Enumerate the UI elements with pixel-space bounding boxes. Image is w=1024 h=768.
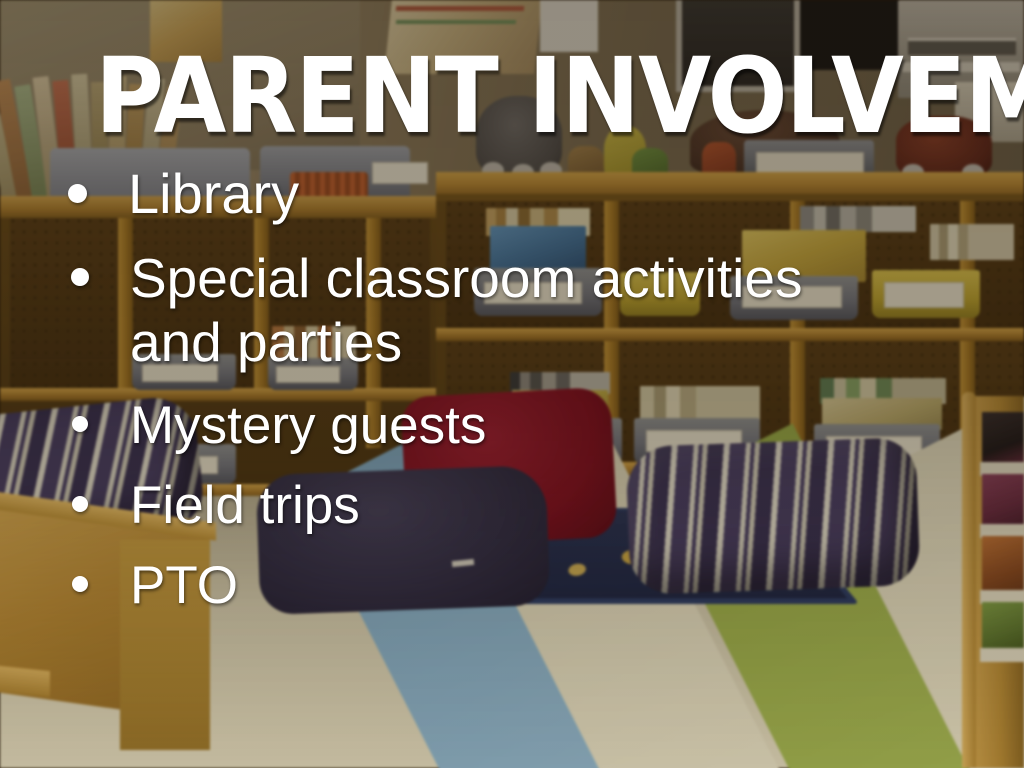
bullet-text: PTO <box>130 556 960 616</box>
bullet-text: Special classroom activities and parties <box>130 246 890 374</box>
list-item: Special classroom activities and parties <box>60 246 960 374</box>
list-item: Field trips <box>60 476 960 536</box>
bullet-dot-icon <box>68 184 87 203</box>
list-item: Library <box>60 163 960 225</box>
presentation-slide: PARENT INVOLVEMENT Library Special class… <box>0 0 1024 768</box>
bullet-dot-icon <box>71 268 89 286</box>
slide-title: PARENT INVOLVEMENT <box>95 44 1024 148</box>
list-item: PTO <box>60 556 960 616</box>
bullet-list: Library Special classroom activities and… <box>60 163 960 616</box>
slide-text-layer: PARENT INVOLVEMENT Library Special class… <box>0 0 1024 768</box>
bullet-dot-icon <box>72 496 88 512</box>
bullet-dot-icon <box>72 576 88 592</box>
bullet-text: Field trips <box>130 476 960 536</box>
bullet-text: Library <box>128 163 960 225</box>
list-item: Mystery guests <box>60 396 960 456</box>
bullet-dot-icon <box>72 416 88 432</box>
bullet-text: Mystery guests <box>130 396 960 456</box>
